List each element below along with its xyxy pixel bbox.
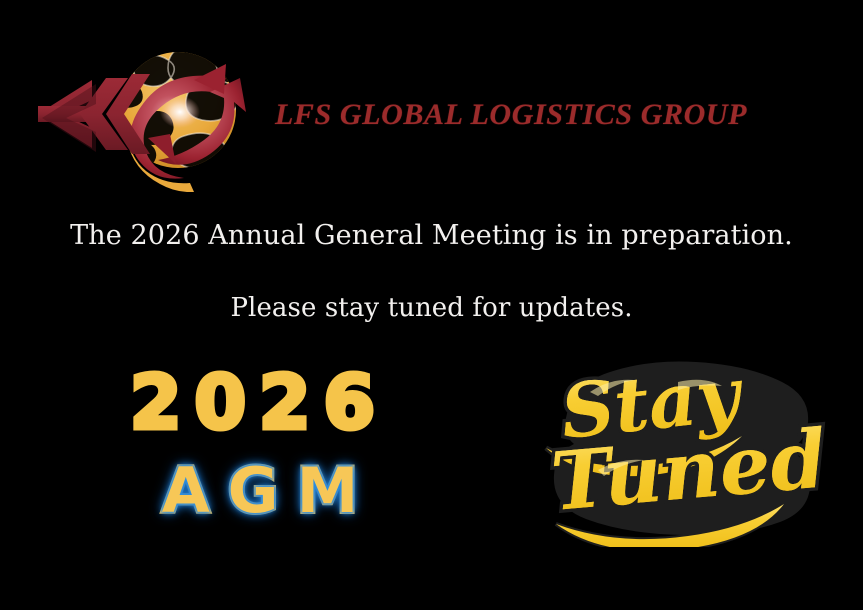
company-name: LFS GLOBAL LOGISTICS GROUP <box>275 98 835 132</box>
globe-arrow-logo <box>30 42 265 192</box>
announcement-line-1: The 2026 Annual General Meeting is in pr… <box>0 220 863 251</box>
year-badge-2026: 2026 <box>0 366 505 440</box>
globe-highlight <box>160 96 200 128</box>
announcement-slide: LFS GLOBAL LOGISTICS GROUP The 2026 Annu… <box>0 0 863 610</box>
agm-badge: AGM <box>0 456 520 526</box>
announcement-line-2: Please stay tuned for updates. <box>0 293 863 323</box>
stay-tuned-sticker: Stay Stay Tuned Tuned <box>528 352 828 547</box>
